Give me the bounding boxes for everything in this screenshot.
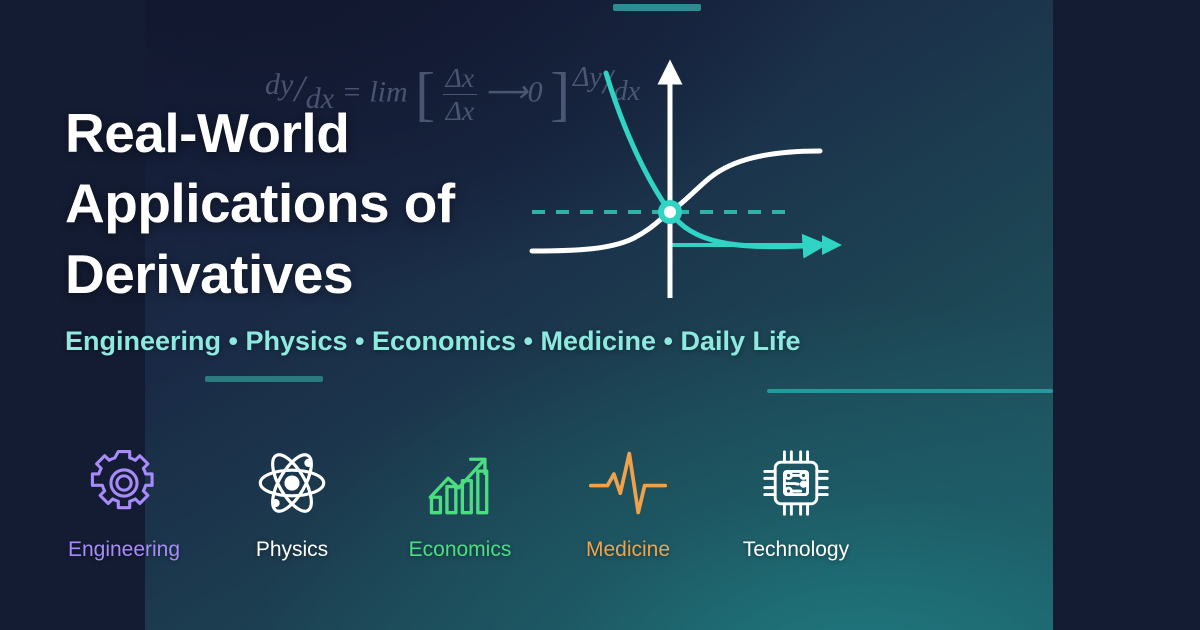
poster-canvas: dy/dx = lim [ Δx Δx ⟶0 ] Δy/dx [0, 0, 1200, 630]
category-label-economics: Economics [409, 538, 512, 562]
category-item-technology[interactable]: Technology [712, 440, 880, 562]
category-label-physics: Physics [256, 538, 328, 562]
category-label-engineering: Engineering [68, 538, 180, 562]
category-label-medicine: Medicine [586, 538, 670, 562]
decay-curve [606, 73, 820, 247]
category-item-engineering[interactable]: Engineering [40, 440, 208, 562]
accent-bar-subtitle [205, 376, 323, 382]
category-item-physics[interactable]: Physics [208, 440, 376, 562]
origin-marker-dot [664, 206, 676, 218]
title-line-1: Real-World [65, 98, 585, 168]
category-icon-row: Engineering Physics [40, 440, 880, 590]
sigmoid-curve [532, 151, 820, 251]
subtitle: Engineering • Physics • Economics • Medi… [65, 326, 801, 357]
accent-bar-top [613, 4, 701, 11]
cpu-chip-icon [759, 440, 833, 526]
title-line-2: Applications of [65, 168, 585, 238]
category-item-economics[interactable]: Economics [376, 440, 544, 562]
heartbeat-icon [587, 440, 669, 526]
title-line-3: Derivatives [65, 239, 585, 309]
derivative-graph [520, 55, 860, 305]
category-label-technology: Technology [743, 538, 849, 562]
atom-icon [253, 440, 331, 526]
category-item-medicine[interactable]: Medicine [544, 440, 712, 562]
bar-chart-growth-icon [422, 440, 498, 526]
page-title: Real-World Applications of Derivatives [65, 98, 585, 309]
accent-bar-right [767, 389, 1053, 393]
gear-icon [86, 440, 162, 526]
